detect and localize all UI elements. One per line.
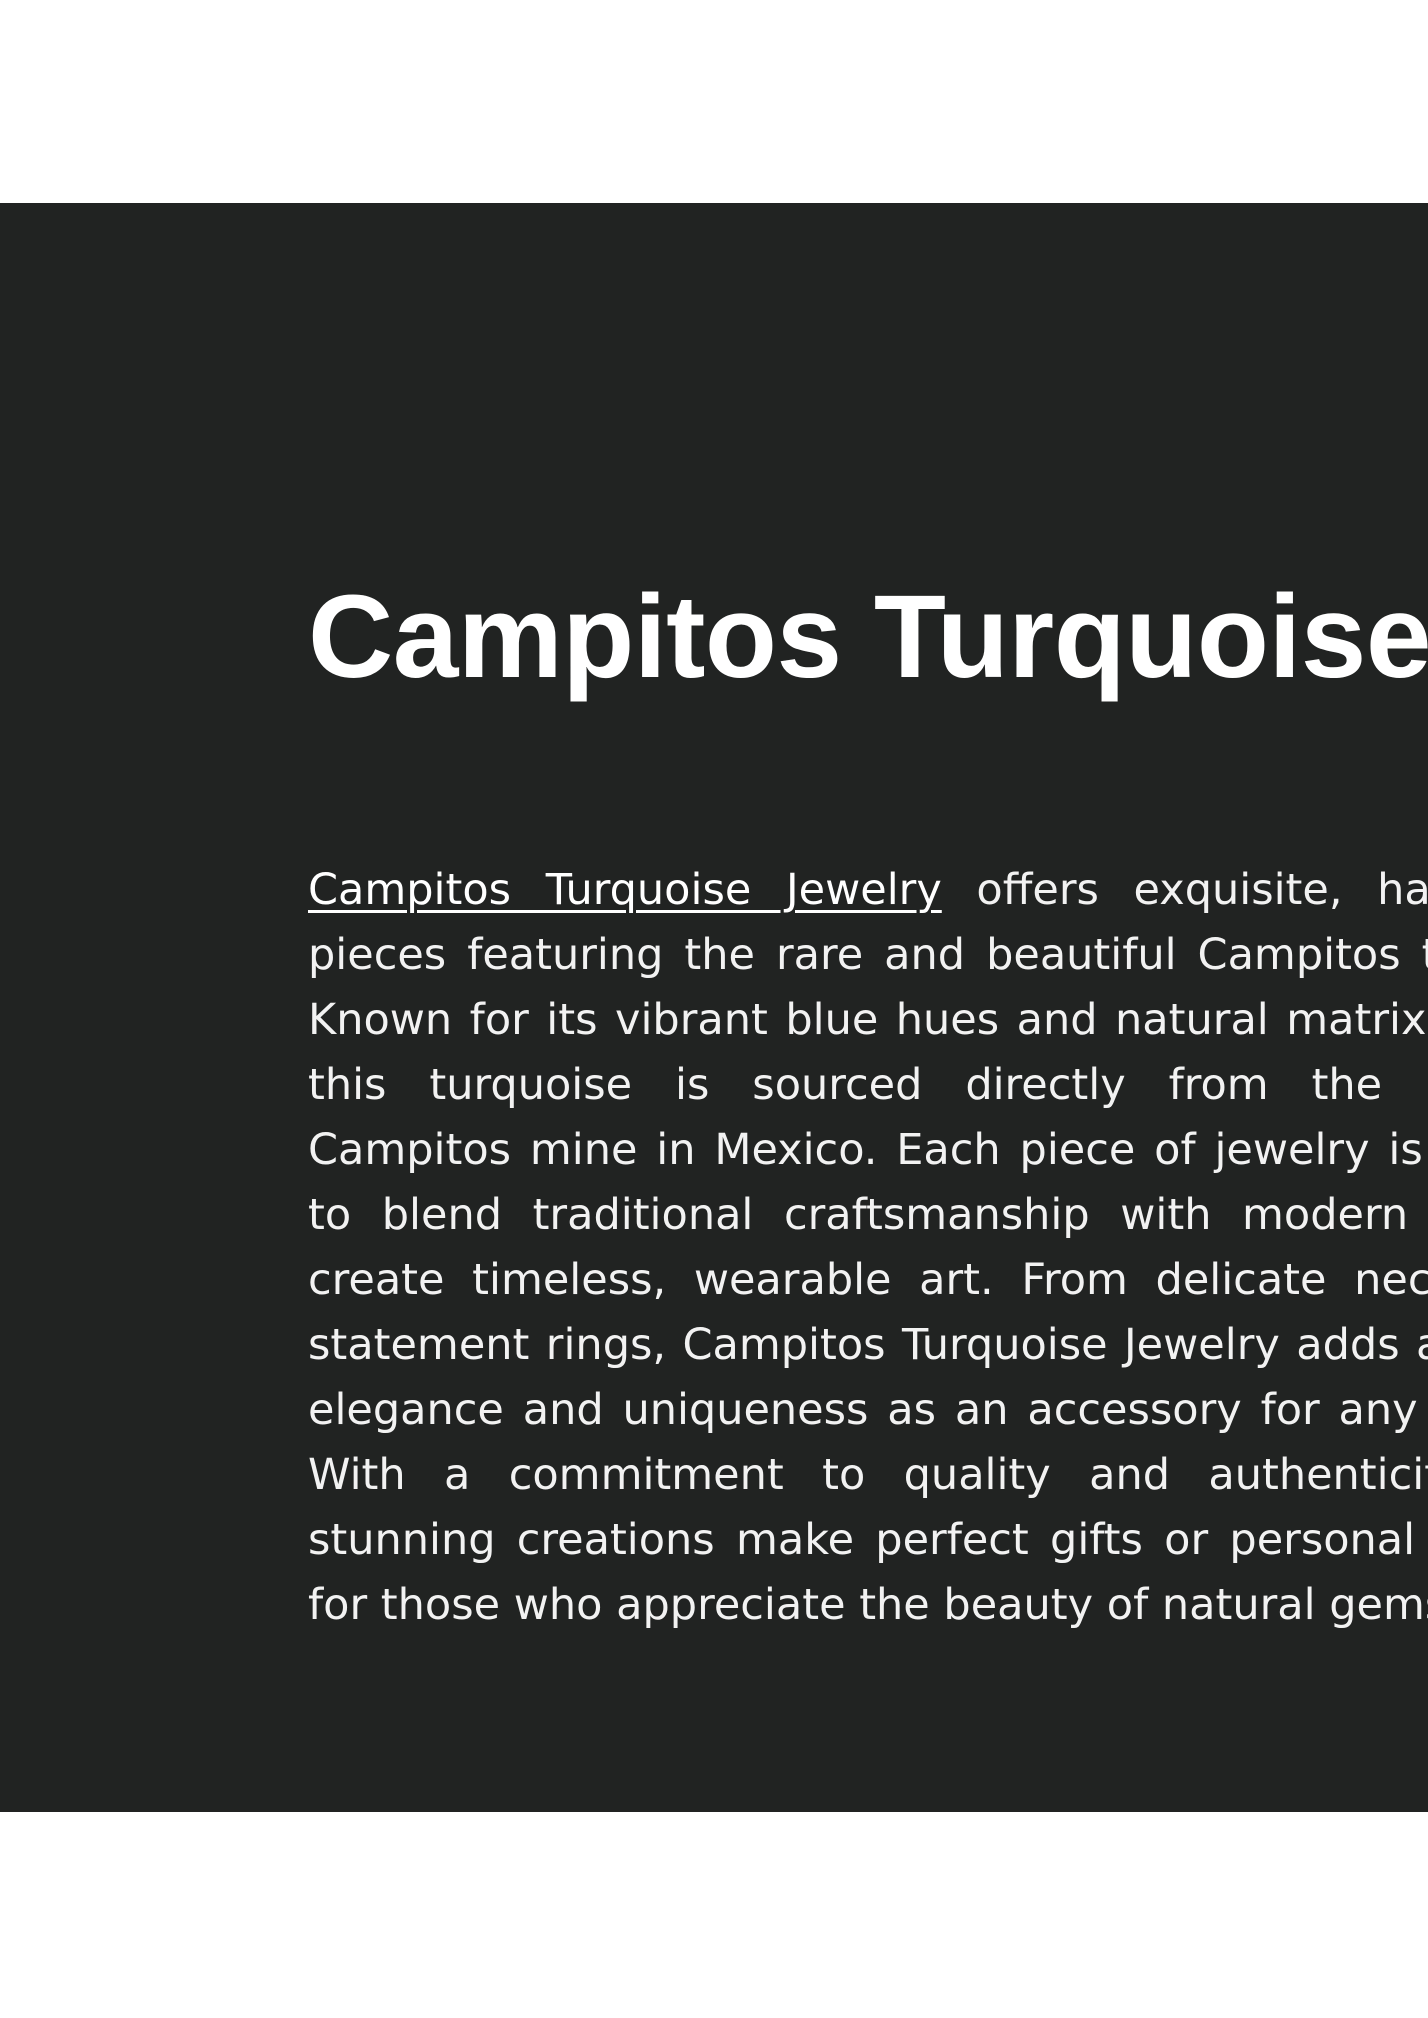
hero-description-text: offers exquisite, handcrafted pieces fea… xyxy=(308,865,1428,1630)
hero-description: Campitos Turquoise Jewelry offers exquis… xyxy=(308,858,1428,1638)
page-title: Campitos Turquoise Jewelry xyxy=(308,575,1428,699)
page-root: Campitos Turquoise Jewelry Campitos Turq… xyxy=(0,0,1428,2018)
campitos-turquoise-jewelry-link[interactable]: Campitos Turquoise Jewelry xyxy=(308,865,942,915)
hero-panel: Campitos Turquoise Jewelry Campitos Turq… xyxy=(0,203,1428,1812)
